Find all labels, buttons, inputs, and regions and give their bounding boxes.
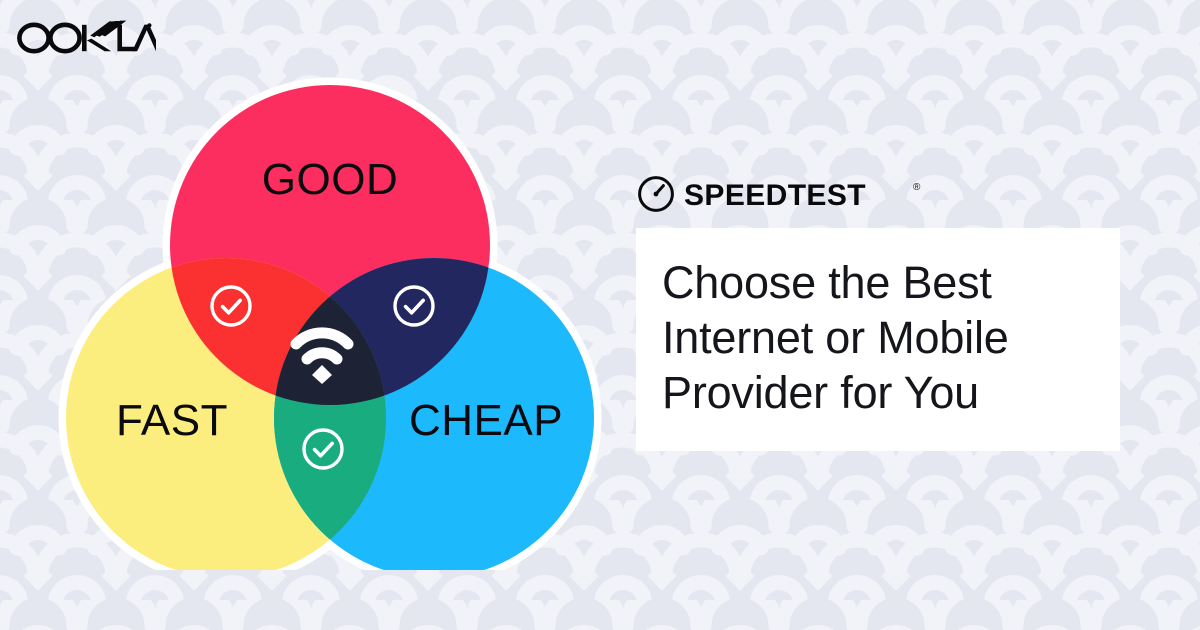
speedtest-logo[interactable]: SPEEDTEST ® <box>636 172 1122 216</box>
right-content-column: SPEEDTEST ® Choose the Best Internet or … <box>636 172 1122 451</box>
speedtest-registered-mark: ® <box>913 182 921 193</box>
headline-line-2: Internet or Mobile <box>662 311 1094 366</box>
headline-line-3: Provider for You <box>662 366 1094 421</box>
headline-box: Choose the Best Internet or Mobile Provi… <box>636 228 1120 451</box>
venn-label-fast: FAST <box>116 396 228 445</box>
speedometer-gauge-icon: SPEEDTEST ® <box>636 172 936 216</box>
headline-line-1: Choose the Best <box>662 256 1094 311</box>
poster-canvas: GOOD FAST CHEAP <box>0 0 1200 630</box>
speedtest-wordmark: SPEEDTEST <box>684 179 866 212</box>
venn-label-cheap: CHEAP <box>409 396 563 445</box>
ookla-wordmark-icon <box>16 16 156 58</box>
venn-label-good: GOOD <box>262 155 398 204</box>
ookla-logo[interactable] <box>16 16 156 58</box>
page-title: Choose the Best Internet or Mobile Provi… <box>662 256 1094 421</box>
venn-diagram: GOOD FAST CHEAP <box>54 70 606 570</box>
